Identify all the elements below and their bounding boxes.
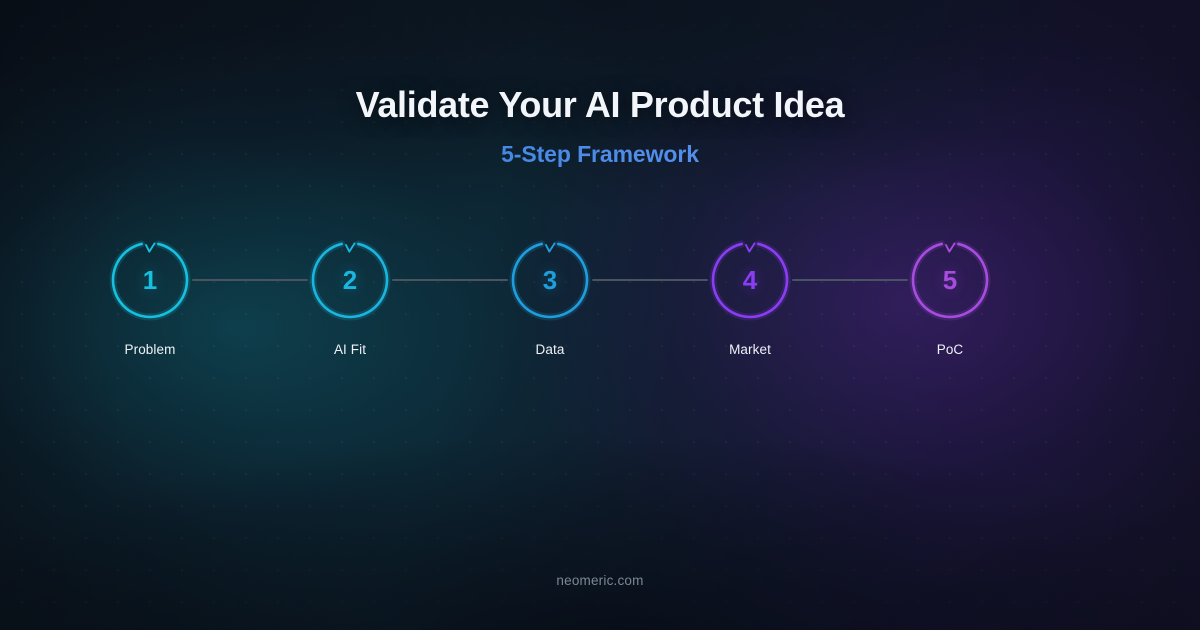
step-5[interactable]: 5PoC: [870, 240, 1030, 357]
step-label: Market: [670, 342, 830, 357]
step-number: 4: [710, 240, 790, 320]
step-label: Problem: [70, 342, 230, 357]
step-label: PoC: [870, 342, 1030, 357]
step-label: Data: [470, 342, 630, 357]
step-number: 2: [310, 240, 390, 320]
step-ring-wrapper: 4: [710, 240, 790, 320]
page-subtitle: 5-Step Framework: [0, 141, 1200, 168]
step-ring-wrapper: 3: [510, 240, 590, 320]
step-3[interactable]: 3Data: [470, 240, 630, 357]
infographic-canvas: Validate Your AI Product Idea 5-Step Fra…: [0, 0, 1200, 630]
step-number: 5: [910, 240, 990, 320]
page-title: Validate Your AI Product Idea: [0, 84, 1200, 125]
footer-domain: neomeric.com: [0, 573, 1200, 588]
step-ring-wrapper: 5: [910, 240, 990, 320]
step-4[interactable]: 4Market: [670, 240, 830, 357]
step-ring-wrapper: 2: [310, 240, 390, 320]
steps-row: 1Problem2AI Fit3Data4Market5PoC: [0, 240, 1200, 360]
step-2[interactable]: 2AI Fit: [270, 240, 430, 357]
step-ring-wrapper: 1: [110, 240, 190, 320]
step-1[interactable]: 1Problem: [70, 240, 230, 357]
step-number: 1: [110, 240, 190, 320]
header: Validate Your AI Product Idea 5-Step Fra…: [0, 0, 1200, 168]
step-number: 3: [510, 240, 590, 320]
step-label: AI Fit: [270, 342, 430, 357]
